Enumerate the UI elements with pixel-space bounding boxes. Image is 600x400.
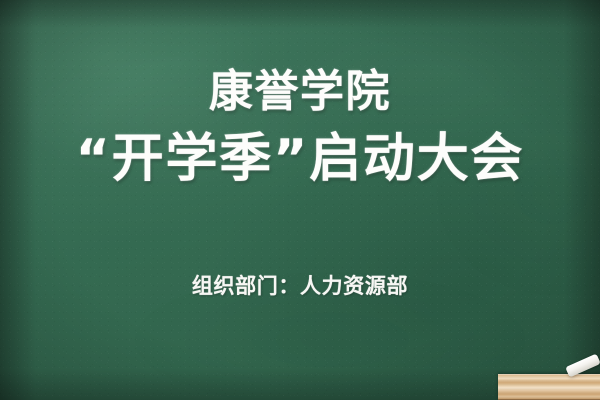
subtitle-organizing-department: 组织部门：人力资源部 (192, 276, 408, 297)
page-title-line-1: 康誉学院 (209, 70, 391, 114)
slide-content: 康誉学院 “开学季”启动大会 组织部门：人力资源部 (0, 0, 600, 400)
chalkboard-slide: 康誉学院 “开学季”启动大会 组织部门：人力资源部 (0, 0, 600, 400)
page-title-line-2: “开学季”启动大会 (76, 133, 525, 185)
chalk-ledge (498, 374, 600, 400)
